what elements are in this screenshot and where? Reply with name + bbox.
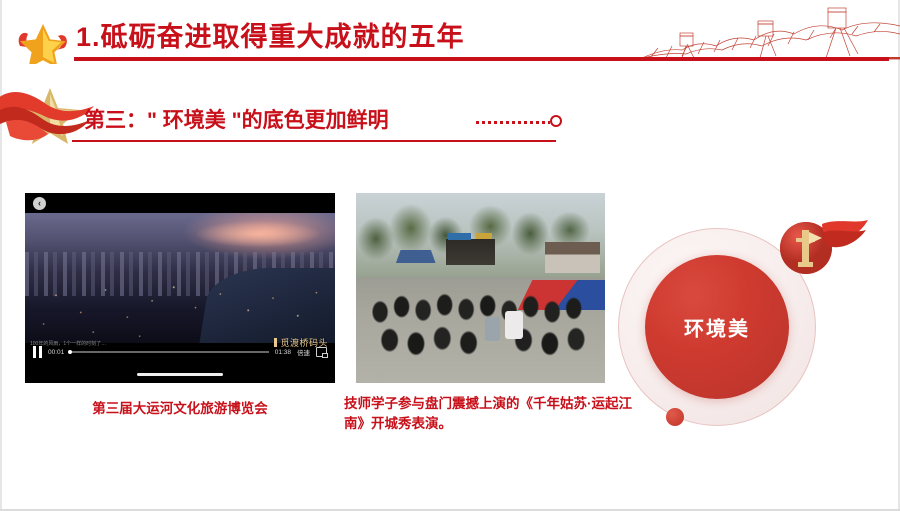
playback-speed-button[interactable]: 倍速 [297,347,310,357]
caption-right: 技师学子参与盘门震撼上演的《千年姑苏·运起江南》开城秀表演。 [344,394,644,434]
title-band: 1.砥砺奋进取得重大成就的五年 [0,0,900,72]
home-indicator-bar [137,373,223,376]
sunset-glow [196,221,320,247]
page-title: 1.砥砺奋进取得重大成就的五年 [76,20,465,54]
photo-stage [446,239,496,266]
video-current-time: 00:01 [48,349,64,356]
video-control-bar[interactable]: 00:01 01:38 倍速 [25,341,335,363]
video-player-card[interactable]: ‹ 100年的风雨，1个一样的时刻了… 觅渡桥码头 00:01 01:38 倍速 [25,193,335,383]
pause-icon[interactable] [33,346,42,358]
theme-badge: 环境美 [618,228,823,433]
badge-label: 环境美 [645,313,789,342]
great-wall-illustration [642,0,900,72]
group-photo-card [356,193,605,383]
photo-person-white [505,311,522,340]
slide-left-edge [0,0,2,511]
connector-end-circle-icon [550,115,562,127]
subtitle-row: 第三：" 环境美 "的底色更加鲜明 [0,78,640,150]
back-arrow-icon[interactable]: ‹ [33,197,46,210]
video-frame-thumbnail [25,213,335,343]
badge-orbit-dot [666,408,684,426]
subtitle-label: 第三：" 环境美 "的底色更加鲜明 [84,108,389,134]
title-underline [74,57,889,61]
photo-building [545,242,600,272]
subtitle-underline [72,140,556,142]
dotted-connector-line [476,121,550,124]
photo-student-crowd [361,282,600,369]
progress-knob[interactable] [68,350,72,354]
photo-blue-tent [396,250,436,263]
video-duration: 01:38 [275,349,291,356]
flag-monument-icon [776,218,868,284]
picture-in-picture-icon[interactable] [316,347,327,357]
presentation-slide: 1.砥砺奋进取得重大成就的五年 第三：" 环境美 "的底色更加鲜明 ‹ [0,0,900,511]
badge-inner-circle: 环境美 [645,255,789,399]
gold-star-icon [12,20,74,64]
video-progress-scrubber[interactable] [70,351,268,353]
caption-left: 第三届大运河文化旅游博览会 [20,399,340,418]
photo-person-grey [485,317,500,342]
city-night-lights [25,275,335,343]
